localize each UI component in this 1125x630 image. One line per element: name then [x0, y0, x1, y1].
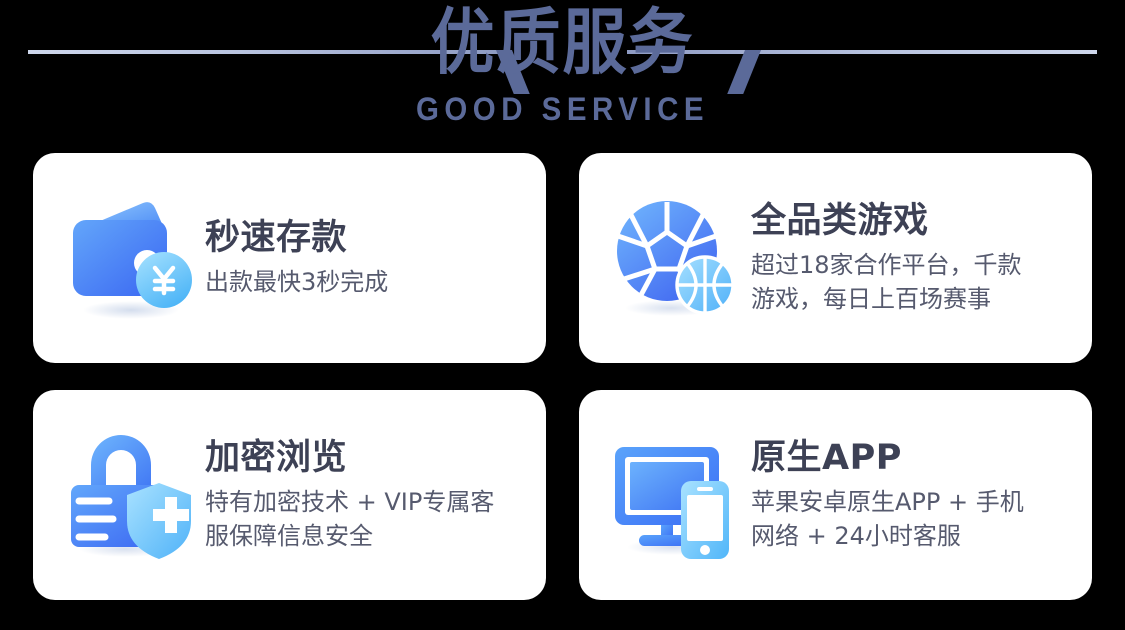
feature-card-deposit[interactable]: 秒速存款 出款最快3秒完成 — [33, 153, 546, 363]
card-description-line: 超过18家合作平台，千款 — [751, 248, 1084, 282]
card-description: 特有加密技术 + VIP专属客 服保障信息安全 — [205, 485, 538, 553]
card-title: 全品类游戏 — [751, 200, 1084, 242]
feature-card-games[interactable]: 全品类游戏 超过18家合作平台，千款 游戏，每日上百场赛事 — [579, 153, 1092, 363]
card-description-line: 苹果安卓原生APP + 手机 — [751, 485, 1084, 519]
wallet-yen-icon — [59, 188, 199, 328]
card-text-block: 原生APP 苹果安卓原生APP + 手机 网络 + 24小时客服 — [751, 437, 1084, 553]
page-header: 优质服务 GOOD SERVICE — [0, 0, 1125, 140]
monitor-phone-icon — [605, 425, 745, 565]
lock-shield-icon — [59, 425, 199, 565]
card-title: 加密浏览 — [205, 437, 538, 479]
feature-card-native-app[interactable]: 原生APP 苹果安卓原生APP + 手机 网络 + 24小时客服 — [579, 390, 1092, 600]
card-text-block: 加密浏览 特有加密技术 + VIP专属客 服保障信息安全 — [205, 437, 538, 553]
soccer-basketball-icon — [605, 188, 745, 328]
page-subtitle: GOOD SERVICE — [45, 92, 1080, 126]
card-title: 秒速存款 — [205, 217, 538, 259]
card-description-line: 出款最快3秒完成 — [205, 265, 538, 299]
card-description: 出款最快3秒完成 — [205, 265, 538, 299]
card-text-block: 秒速存款 出款最快3秒完成 — [205, 217, 538, 299]
header-title-block: 优质服务 GOOD SERVICE — [0, 0, 1125, 126]
card-description-line: 服保障信息安全 — [205, 519, 538, 553]
card-description: 超过18家合作平台，千款 游戏，每日上百场赛事 — [751, 248, 1084, 316]
card-description-line: 特有加密技术 + VIP专属客 — [205, 485, 538, 519]
card-title: 原生APP — [751, 437, 1084, 479]
card-description: 苹果安卓原生APP + 手机 网络 + 24小时客服 — [751, 485, 1084, 553]
feature-card-grid: 秒速存款 出款最快3秒完成 — [33, 153, 1092, 600]
card-text-block: 全品类游戏 超过18家合作平台，千款 游戏，每日上百场赛事 — [751, 200, 1084, 316]
page-title: 优质服务 — [0, 0, 1125, 87]
feature-card-encryption[interactable]: 加密浏览 特有加密技术 + VIP专属客 服保障信息安全 — [33, 390, 546, 600]
card-description-line: 网络 + 24小时客服 — [751, 519, 1084, 553]
card-description-line: 游戏，每日上百场赛事 — [751, 282, 1084, 316]
